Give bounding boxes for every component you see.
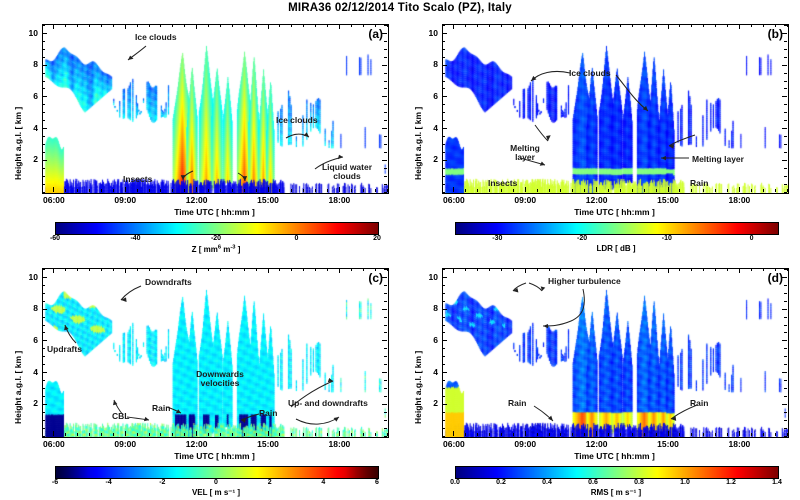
x-minor-tickmark <box>184 189 185 192</box>
colorbar-tick-label: 0.8 <box>621 479 657 486</box>
y-minor-tickmark <box>42 293 45 294</box>
x-minor-tickmark <box>513 189 514 192</box>
y-minor-tickmark <box>784 388 787 389</box>
x-tickmark <box>53 268 54 273</box>
y-minor-tickmark <box>384 120 387 121</box>
y-minor-tickmark <box>784 317 787 318</box>
y-minor-tickmark <box>384 428 387 429</box>
x-minor-tickmark <box>584 24 585 27</box>
x-minor-tickmark <box>715 433 716 436</box>
y-minor-tickmark <box>784 348 787 349</box>
y-minor-tickmark <box>442 301 445 302</box>
y-minor-tickmark <box>784 301 787 302</box>
x-tick-label: 18:00 <box>319 195 359 205</box>
x-tick-label: 09:00 <box>505 195 545 205</box>
panel-c-anno-downdrafts: Downdrafts <box>145 277 192 287</box>
y-tickmark <box>382 128 387 129</box>
panel-b-anno-melting-layer-2: Melting layer <box>692 154 744 164</box>
y-tick-label: 6 <box>20 91 38 101</box>
x-minor-tickmark <box>327 189 328 192</box>
x-tickmark <box>196 187 197 192</box>
y-minor-tickmark <box>384 412 387 413</box>
y-minor-tickmark <box>442 104 445 105</box>
x-tickmark <box>125 187 126 192</box>
x-minor-tickmark <box>537 189 538 192</box>
y-minor-tickmark <box>442 436 445 437</box>
y-minor-tickmark <box>442 420 445 421</box>
panel-d-anno-rain-2: Rain <box>690 398 708 408</box>
x-tickmark <box>339 24 340 29</box>
x-minor-tickmark <box>303 433 304 436</box>
x-minor-tickmark <box>113 189 114 192</box>
x-minor-tickmark <box>256 24 257 27</box>
x-minor-tickmark <box>303 24 304 27</box>
y-minor-tickmark <box>42 348 45 349</box>
y-tickmark <box>782 372 787 373</box>
x-minor-tickmark <box>560 433 561 436</box>
x-minor-tickmark <box>315 189 316 192</box>
colorbar-tick-label: 0.4 <box>529 479 565 486</box>
y-minor-tickmark <box>384 49 387 50</box>
x-minor-tickmark <box>256 189 257 192</box>
y-tickmark <box>782 309 787 310</box>
x-minor-tickmark <box>220 268 221 271</box>
x-tick-label: 12:00 <box>577 195 617 205</box>
colorbar-tick-label: -2 <box>144 479 180 486</box>
panel-d-ylabel: Height a.g.l. [ km ] <box>413 351 423 424</box>
x-minor-tickmark <box>572 24 573 27</box>
colorbar-tick-label: -20 <box>564 235 600 242</box>
y-tickmark <box>382 96 387 97</box>
y-tickmark <box>382 340 387 341</box>
y-tick-label: 6 <box>420 91 438 101</box>
y-minor-tickmark <box>784 412 787 413</box>
y-minor-tickmark <box>784 104 787 105</box>
x-tickmark <box>339 431 340 436</box>
x-minor-tickmark <box>303 268 304 271</box>
panel-b-ylabel: Height a.g.l. [ km ] <box>413 107 423 180</box>
y-minor-tickmark <box>784 152 787 153</box>
x-minor-tickmark <box>315 433 316 436</box>
x-minor-tickmark <box>513 433 514 436</box>
x-minor-tickmark <box>501 189 502 192</box>
x-minor-tickmark <box>160 433 161 436</box>
y-minor-tickmark <box>42 436 45 437</box>
y-minor-tickmark <box>384 396 387 397</box>
x-tickmark <box>268 24 269 29</box>
x-minor-tickmark <box>691 268 692 271</box>
x-minor-tickmark <box>351 268 352 271</box>
x-minor-tickmark <box>572 268 573 271</box>
y-tick-label: 8 <box>20 303 38 313</box>
y-minor-tickmark <box>784 380 787 381</box>
figure-title: MIRA36 02/12/2014 Tito Scalo (PZ), Italy <box>0 2 800 14</box>
panel-a-ylabel: Height a.g.l. [ km ] <box>13 107 23 180</box>
colorbar-tick-label: 1.4 <box>759 479 795 486</box>
x-minor-tickmark <box>644 24 645 27</box>
y-tickmark <box>782 65 787 66</box>
y-minor-tickmark <box>42 317 45 318</box>
y-minor-tickmark <box>384 184 387 185</box>
x-minor-tickmark <box>501 268 502 271</box>
y-minor-tickmark <box>42 325 45 326</box>
x-tick-label: 06:00 <box>34 439 74 449</box>
y-minor-tickmark <box>384 112 387 113</box>
x-tick-label: 15:00 <box>248 439 288 449</box>
y-tickmark <box>382 65 387 66</box>
panel-a-label: (a) <box>368 27 383 41</box>
y-minor-tickmark <box>442 41 445 42</box>
y-minor-tickmark <box>442 176 445 177</box>
x-minor-tickmark <box>489 433 490 436</box>
y-minor-tickmark <box>784 57 787 58</box>
colorbar-d <box>455 466 779 479</box>
x-tick-label: 12:00 <box>577 439 617 449</box>
x-minor-tickmark <box>101 433 102 436</box>
y-minor-tickmark <box>42 88 45 89</box>
y-minor-tickmark <box>384 380 387 381</box>
x-minor-tickmark <box>537 24 538 27</box>
x-minor-tickmark <box>549 268 550 271</box>
panel-b-anno-ice-clouds: Ice clouds <box>569 68 611 78</box>
x-tick-label: 15:00 <box>648 195 688 205</box>
y-minor-tickmark <box>384 301 387 302</box>
y-tickmark <box>42 33 47 34</box>
y-tickmark <box>782 96 787 97</box>
x-axis-label: Time UTC [ hh:mm ] <box>442 207 787 217</box>
x-minor-tickmark <box>256 268 257 271</box>
y-tick-label: 6 <box>420 335 438 345</box>
y-minor-tickmark <box>42 301 45 302</box>
y-minor-tickmark <box>42 356 45 357</box>
y-minor-tickmark <box>442 332 445 333</box>
x-minor-tickmark <box>244 268 245 271</box>
x-minor-tickmark <box>477 24 478 27</box>
y-minor-tickmark <box>384 57 387 58</box>
x-axis-label: Time UTC [ hh:mm ] <box>42 207 387 217</box>
x-minor-tickmark <box>137 24 138 27</box>
y-minor-tickmark <box>384 364 387 365</box>
y-tickmark <box>382 309 387 310</box>
x-minor-tickmark <box>363 189 364 192</box>
panel-c-heatmap <box>43 269 388 437</box>
x-minor-tickmark <box>560 189 561 192</box>
x-minor-tickmark <box>232 24 233 27</box>
y-minor-tickmark <box>384 136 387 137</box>
y-tickmark <box>442 128 447 129</box>
y-minor-tickmark <box>784 396 787 397</box>
colorbar-a-label: Z [ mm6 m-3 ] <box>55 244 377 254</box>
y-tickmark <box>782 128 787 129</box>
x-tickmark <box>268 268 269 273</box>
x-minor-tickmark <box>477 433 478 436</box>
x-tickmark <box>739 431 740 436</box>
x-minor-tickmark <box>644 189 645 192</box>
y-tickmark <box>382 160 387 161</box>
x-minor-tickmark <box>513 24 514 27</box>
x-minor-tickmark <box>65 189 66 192</box>
x-minor-tickmark <box>351 24 352 27</box>
y-tickmark <box>442 160 447 161</box>
x-tickmark <box>125 24 126 29</box>
panel-b-label: (b) <box>768 27 783 41</box>
x-tickmark <box>739 24 740 29</box>
x-minor-tickmark <box>220 24 221 27</box>
x-minor-tickmark <box>279 24 280 27</box>
y-minor-tickmark <box>784 120 787 121</box>
x-minor-tickmark <box>644 433 645 436</box>
x-minor-tickmark <box>584 268 585 271</box>
colorbar-tick-label: 1.2 <box>713 479 749 486</box>
y-tick-label: 10 <box>20 28 38 38</box>
x-tickmark <box>268 187 269 192</box>
y-minor-tickmark <box>442 293 445 294</box>
y-minor-tickmark <box>384 73 387 74</box>
colorbar-a-label-text: Z [ mm6 m-3 ] <box>192 245 241 254</box>
x-minor-tickmark <box>727 268 728 271</box>
x-minor-tickmark <box>751 268 752 271</box>
x-tickmark <box>196 24 197 29</box>
x-minor-tickmark <box>89 24 90 27</box>
x-minor-tickmark <box>537 433 538 436</box>
x-minor-tickmark <box>363 24 364 27</box>
x-minor-tickmark <box>656 189 657 192</box>
colorbar-tick-label: 0 <box>279 235 315 242</box>
y-tick-label: 2 <box>20 154 38 164</box>
panel-a-anno-ice-clouds-2: Ice clouds <box>276 115 318 125</box>
colorbar-tick-label: 20 <box>359 235 395 242</box>
y-tickmark <box>442 309 447 310</box>
x-minor-tickmark <box>184 24 185 27</box>
y-minor-tickmark <box>442 184 445 185</box>
x-minor-tickmark <box>549 24 550 27</box>
x-minor-tickmark <box>65 433 66 436</box>
y-tickmark <box>42 309 47 310</box>
y-minor-tickmark <box>42 73 45 74</box>
x-minor-tickmark <box>620 433 621 436</box>
x-tickmark <box>268 431 269 436</box>
x-minor-tickmark <box>656 268 657 271</box>
colorbar-tick-label: 1.0 <box>667 479 703 486</box>
x-tick-label: 09:00 <box>105 195 145 205</box>
y-minor-tickmark <box>384 152 387 153</box>
y-tick-label: 6 <box>20 335 38 345</box>
x-minor-tickmark <box>77 268 78 271</box>
x-tickmark <box>53 431 54 436</box>
y-minor-tickmark <box>784 293 787 294</box>
y-minor-tickmark <box>784 325 787 326</box>
x-minor-tickmark <box>465 268 466 271</box>
x-minor-tickmark <box>387 268 388 271</box>
x-minor-tickmark <box>727 189 728 192</box>
x-minor-tickmark <box>679 433 680 436</box>
x-minor-tickmark <box>208 433 209 436</box>
y-minor-tickmark <box>784 285 787 286</box>
x-minor-tickmark <box>715 268 716 271</box>
y-minor-tickmark <box>42 81 45 82</box>
x-tickmark <box>453 24 454 29</box>
x-minor-tickmark <box>727 24 728 27</box>
x-minor-tickmark <box>608 433 609 436</box>
y-minor-tickmark <box>784 136 787 137</box>
x-minor-tickmark <box>160 189 161 192</box>
x-tick-label: 09:00 <box>505 439 545 449</box>
x-minor-tickmark <box>691 189 692 192</box>
y-minor-tickmark <box>442 356 445 357</box>
x-minor-tickmark <box>89 268 90 271</box>
y-tick-label: 4 <box>420 367 438 377</box>
y-minor-tickmark <box>442 317 445 318</box>
x-minor-tickmark <box>291 433 292 436</box>
colorbar-tick-label: -20 <box>198 235 234 242</box>
y-tick-label: 2 <box>20 398 38 408</box>
x-minor-tickmark <box>113 268 114 271</box>
x-minor-tickmark <box>727 433 728 436</box>
y-minor-tickmark <box>442 388 445 389</box>
x-minor-tickmark <box>137 189 138 192</box>
panel-b-anno-rain: Rain <box>690 178 708 188</box>
y-tickmark <box>442 404 447 405</box>
x-tickmark <box>596 24 597 29</box>
x-minor-tickmark <box>513 268 514 271</box>
y-minor-tickmark <box>442 81 445 82</box>
x-minor-tickmark <box>787 24 788 27</box>
x-tickmark <box>196 431 197 436</box>
x-minor-tickmark <box>172 268 173 271</box>
y-minor-tickmark <box>784 176 787 177</box>
x-minor-tickmark <box>291 189 292 192</box>
y-tickmark <box>782 404 787 405</box>
x-minor-tickmark <box>256 433 257 436</box>
y-minor-tickmark <box>42 364 45 365</box>
x-tick-label: 15:00 <box>248 195 288 205</box>
x-minor-tickmark <box>584 189 585 192</box>
x-minor-tickmark <box>113 24 114 27</box>
x-minor-tickmark <box>137 433 138 436</box>
panel-a-anno-insects: Insects <box>123 174 152 184</box>
y-minor-tickmark <box>42 192 45 193</box>
x-axis-label: Time UTC [ hh:mm ] <box>42 451 387 461</box>
y-tickmark <box>442 372 447 373</box>
x-minor-tickmark <box>751 433 752 436</box>
x-minor-tickmark <box>149 24 150 27</box>
y-minor-tickmark <box>42 184 45 185</box>
colorbar-c-label: VEL [ m s⁻¹ ] <box>55 488 377 497</box>
y-tickmark <box>42 160 47 161</box>
y-minor-tickmark <box>42 41 45 42</box>
colorbar-tick-label: 0 <box>198 479 234 486</box>
colorbar-tick-label: -6 <box>37 479 73 486</box>
y-minor-tickmark <box>442 325 445 326</box>
x-tick-label: 15:00 <box>648 439 688 449</box>
y-minor-tickmark <box>42 112 45 113</box>
x-minor-tickmark <box>220 189 221 192</box>
panel-b-plot: (b) <box>442 24 789 194</box>
x-minor-tickmark <box>549 189 550 192</box>
y-minor-tickmark <box>442 168 445 169</box>
y-tickmark <box>782 160 787 161</box>
x-minor-tickmark <box>101 268 102 271</box>
panel-b-anno-melting-layer-1: Melting layer <box>503 144 547 162</box>
y-minor-tickmark <box>384 348 387 349</box>
colorbar-d-label: RMS [ m s⁻¹ ] <box>455 488 777 497</box>
y-minor-tickmark <box>42 388 45 389</box>
colorbar-tick-label: 0 <box>734 235 770 242</box>
x-minor-tickmark <box>184 268 185 271</box>
colorbar-tick-label: 0.6 <box>575 479 611 486</box>
y-tick-label: 2 <box>420 398 438 408</box>
x-tickmark <box>196 268 197 273</box>
x-tickmark <box>739 268 740 273</box>
x-tickmark <box>525 268 526 273</box>
x-tick-label: 12:00 <box>177 439 217 449</box>
y-minor-tickmark <box>784 144 787 145</box>
x-minor-tickmark <box>751 189 752 192</box>
y-minor-tickmark <box>784 41 787 42</box>
x-minor-tickmark <box>77 24 78 27</box>
y-minor-tickmark <box>384 168 387 169</box>
x-minor-tickmark <box>89 433 90 436</box>
x-minor-tickmark <box>620 268 621 271</box>
x-minor-tickmark <box>703 268 704 271</box>
y-minor-tickmark <box>442 144 445 145</box>
x-tick-label: 06:00 <box>434 195 474 205</box>
panel-a-anno-liquid-water-clouds: Liquid water clouds <box>309 163 385 181</box>
x-minor-tickmark <box>279 433 280 436</box>
colorbar-tick-label: 4 <box>305 479 341 486</box>
panel-b-heatmap <box>443 25 788 193</box>
y-minor-tickmark <box>784 184 787 185</box>
y-minor-tickmark <box>384 388 387 389</box>
x-minor-tickmark <box>291 268 292 271</box>
x-minor-tickmark <box>184 433 185 436</box>
y-minor-tickmark <box>784 420 787 421</box>
y-tickmark <box>442 65 447 66</box>
y-tickmark <box>42 372 47 373</box>
x-minor-tickmark <box>172 433 173 436</box>
x-minor-tickmark <box>656 24 657 27</box>
y-tick-label: 2 <box>420 154 438 164</box>
x-minor-tickmark <box>160 24 161 27</box>
x-tick-label: 12:00 <box>177 195 217 205</box>
y-minor-tickmark <box>42 412 45 413</box>
x-tickmark <box>339 268 340 273</box>
x-minor-tickmark <box>775 433 776 436</box>
y-minor-tickmark <box>42 152 45 153</box>
x-minor-tickmark <box>501 433 502 436</box>
x-minor-tickmark <box>172 24 173 27</box>
y-minor-tickmark <box>784 73 787 74</box>
x-minor-tickmark <box>465 24 466 27</box>
panel-c-anno-up-and-downdrafts: Up- and downdrafts <box>288 398 368 408</box>
x-minor-tickmark <box>351 433 352 436</box>
y-minor-tickmark <box>42 380 45 381</box>
x-minor-tickmark <box>327 268 328 271</box>
x-minor-tickmark <box>477 268 478 271</box>
x-minor-tickmark <box>65 268 66 271</box>
x-tickmark <box>53 24 54 29</box>
x-minor-tickmark <box>172 189 173 192</box>
colorbar-b <box>455 222 779 235</box>
y-minor-tickmark <box>442 88 445 89</box>
x-minor-tickmark <box>387 189 388 192</box>
x-tick-label: 09:00 <box>105 439 145 449</box>
y-minor-tickmark <box>384 176 387 177</box>
y-minor-tickmark <box>784 332 787 333</box>
y-minor-tickmark <box>42 120 45 121</box>
y-minor-tickmark <box>442 364 445 365</box>
panel-d-anno-rain-1: Rain <box>508 398 526 408</box>
